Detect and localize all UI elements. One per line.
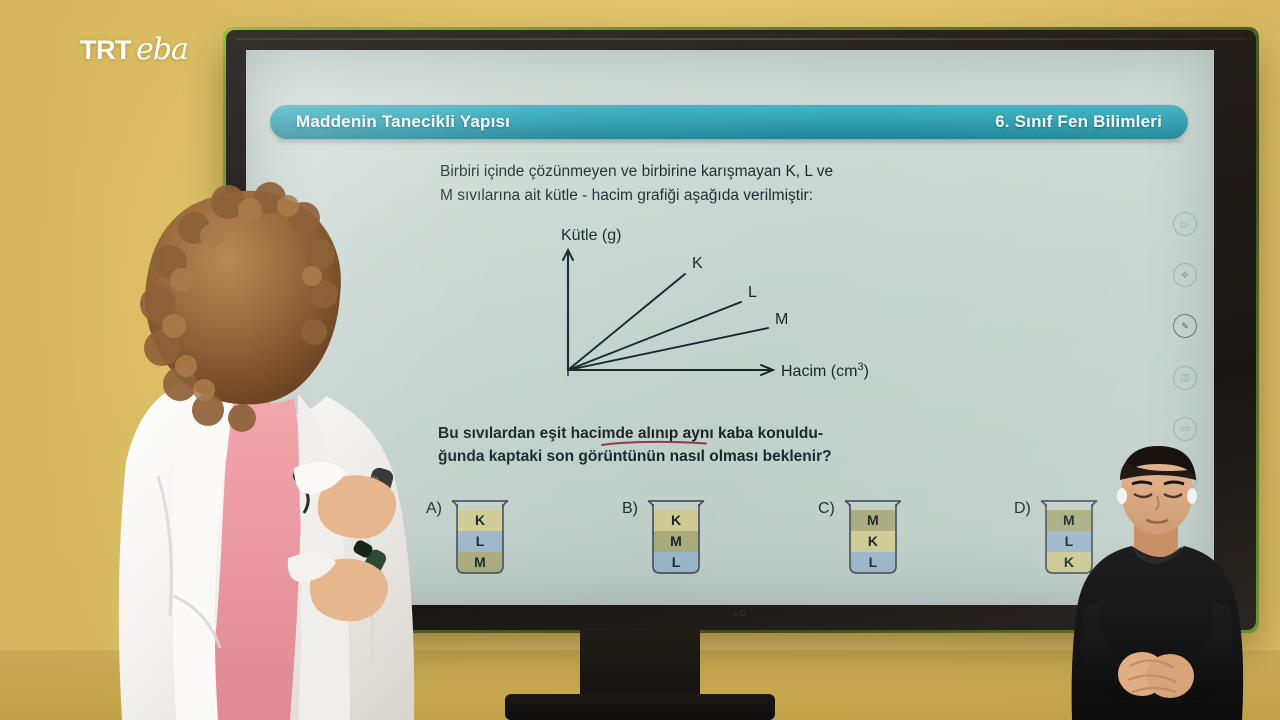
slide-subject: 6. Sınıf Fen Bilimleri bbox=[995, 112, 1162, 132]
answer-option-c[interactable]: C)MKL bbox=[818, 490, 905, 576]
question-prompt-line-2: ğunda kaptaki son görüntünün nasıl olmas… bbox=[438, 445, 1088, 468]
layer-label-M: M bbox=[841, 512, 905, 528]
monitor-brand-logo: LG bbox=[734, 609, 749, 618]
question-intro-text: Birbiri içinde çözünmeyen ve birbirine k… bbox=[440, 160, 1080, 208]
trt-eba-logo: TRT eba bbox=[80, 32, 188, 67]
beaker: MKL bbox=[841, 490, 905, 576]
beaker: KML bbox=[644, 490, 708, 576]
layer-label-K: K bbox=[644, 512, 708, 528]
logo-trt-text: TRT bbox=[80, 35, 131, 66]
layer-label-M: M bbox=[644, 533, 708, 549]
answer-option-b[interactable]: B)KML bbox=[622, 490, 708, 576]
series-line-K bbox=[568, 274, 685, 370]
layer-label-L: L bbox=[841, 554, 905, 570]
series-line-M bbox=[568, 328, 768, 370]
bezel-highlight bbox=[236, 38, 1246, 40]
monitor-stand-base bbox=[505, 694, 775, 720]
cursor-icon[interactable]: ✥ bbox=[1173, 263, 1197, 287]
option-letter: D) bbox=[1014, 500, 1031, 518]
shapes-icon[interactable]: ◫ bbox=[1173, 366, 1197, 390]
option-letter: C) bbox=[818, 500, 835, 518]
clasped-hands bbox=[1118, 652, 1194, 698]
mass-volume-chart: K L M Kütle (g) Hacim (cm3) bbox=[526, 218, 906, 398]
question-prompt-line-1: Bu sıvılardan eşit hacimde alınıp aynı k… bbox=[438, 422, 1088, 445]
play-icon[interactable]: ▷ bbox=[1173, 212, 1197, 236]
series-line-L bbox=[568, 302, 741, 370]
handwritten-underline bbox=[601, 440, 707, 447]
svg-text:K: K bbox=[692, 255, 703, 272]
earbud-left bbox=[1117, 488, 1127, 504]
sign-language-interpreter bbox=[1058, 440, 1258, 720]
question-intro-line-1: Birbiri içinde çözünmeyen ve birbirine k… bbox=[440, 160, 1080, 184]
pen-icon[interactable]: ✎ bbox=[1173, 314, 1197, 338]
svg-text:Kütle (g): Kütle (g) bbox=[561, 227, 621, 244]
earbud-right bbox=[1187, 488, 1197, 504]
presenter-teacher bbox=[62, 176, 462, 720]
layer-label-K: K bbox=[841, 533, 905, 549]
logo-eba-text: eba bbox=[136, 32, 188, 67]
question-prompt-text: Bu sıvılardan eşit hacimde alınıp aynı k… bbox=[438, 422, 1088, 468]
question-intro-line-2: M sıvılarına ait kütle - hacim grafiği a… bbox=[440, 184, 1080, 208]
slide-title: Maddenin Tanecikli Yapısı bbox=[296, 112, 510, 132]
eraser-icon[interactable]: ▭ bbox=[1173, 417, 1197, 441]
svg-text:L: L bbox=[748, 284, 757, 301]
option-letter: B) bbox=[622, 500, 638, 518]
layer-label-L: L bbox=[644, 554, 708, 570]
studio-stage: LG Maddenin Tanecikli Yapısı 6. Sınıf Fe… bbox=[0, 0, 1280, 720]
monitor-stand-neck bbox=[580, 628, 700, 698]
svg-text:M: M bbox=[775, 311, 788, 328]
slide-header-bar: Maddenin Tanecikli Yapısı 6. Sınıf Fen B… bbox=[270, 105, 1188, 139]
svg-text:Hacim (cm3): Hacim (cm3) bbox=[781, 361, 869, 380]
